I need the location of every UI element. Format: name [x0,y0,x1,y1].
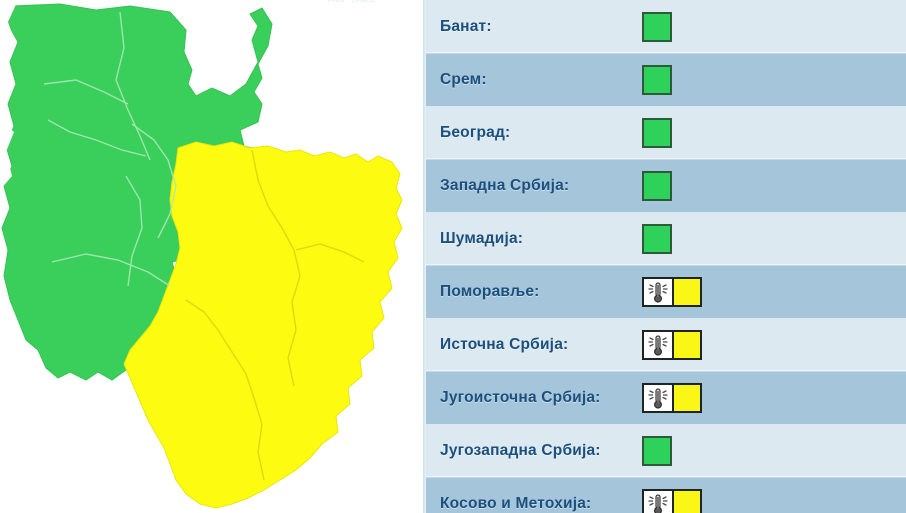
region-name: Београд: [426,124,642,142]
table-row[interactable]: Банат: [426,0,906,53]
region-name: Поморавље: [426,283,642,301]
high-temperature-icon [642,489,672,513]
warning-badge[interactable] [642,276,702,307]
warning-level-swatch-green [642,118,672,148]
warning-level-swatch-yellow [672,277,702,307]
region-name: Шумадија: [426,230,642,248]
warning-level-swatch-yellow [672,383,702,413]
region-name: Срем: [426,71,642,89]
warning-badge[interactable] [642,170,672,201]
region-name: Источна Србија: [426,336,642,354]
table-row[interactable]: Поморавље: [426,265,906,318]
warning-level-swatch-yellow [672,489,702,513]
region-name: Југозападна Србија: [426,442,642,460]
warning-badge[interactable] [642,223,672,254]
table-row[interactable]: Западна Србија: [426,159,906,212]
table-row[interactable]: Шумадија: [426,212,906,265]
warning-badge[interactable] [642,382,702,413]
warning-badge[interactable] [642,488,702,513]
table-row[interactable]: Источна Србија: [426,318,906,371]
warning-badge[interactable] [642,64,672,95]
svg-text:РХМЗ: РХМЗ [328,0,345,4]
region-name: Југоисточна Србија: [426,389,642,407]
warning-level-swatch-yellow [672,330,702,360]
warning-level-swatch-green [642,171,672,201]
serbia-warning-map[interactable]: РХМЗ СРБИЈЕ [0,0,415,513]
high-temperature-icon [642,330,672,360]
warning-badge[interactable] [642,11,672,42]
region-name: Западна Србија: [426,177,642,195]
warning-level-swatch-green [642,12,672,42]
svg-text:СРБИЈЕ: СРБИЈЕ [352,0,376,4]
warning-badge[interactable] [642,117,672,148]
warning-overview-screen: РХМЗ СРБИЈЕ Банат: Срем: Београд: [0,0,906,513]
warning-badge[interactable] [642,329,702,360]
region-name: Косово и Метохија: [426,495,642,513]
warning-level-swatch-green [642,65,672,95]
regional-warning-list: Банат: Срем: Београд: Западна Србија: [426,0,906,513]
rhmz-emblem-icon: РХМЗ СРБИЈЕ [300,0,390,28]
warning-level-swatch-green [642,436,672,466]
warning-level-swatch-green [642,224,672,254]
table-row[interactable]: Косово и Метохија: [426,477,906,513]
serbia-map-graphic[interactable] [0,0,415,513]
region-name: Банат: [426,18,642,36]
warning-badge[interactable] [642,435,672,466]
table-row[interactable]: Југозападна Србија: [426,424,906,477]
table-row[interactable]: Београд: [426,106,906,159]
map-table-gutter [415,0,423,513]
high-temperature-icon [642,277,672,307]
table-row[interactable]: Југоисточна Србија: [426,371,906,424]
table-row[interactable]: Срем: [426,53,906,106]
high-temperature-icon [642,383,672,413]
